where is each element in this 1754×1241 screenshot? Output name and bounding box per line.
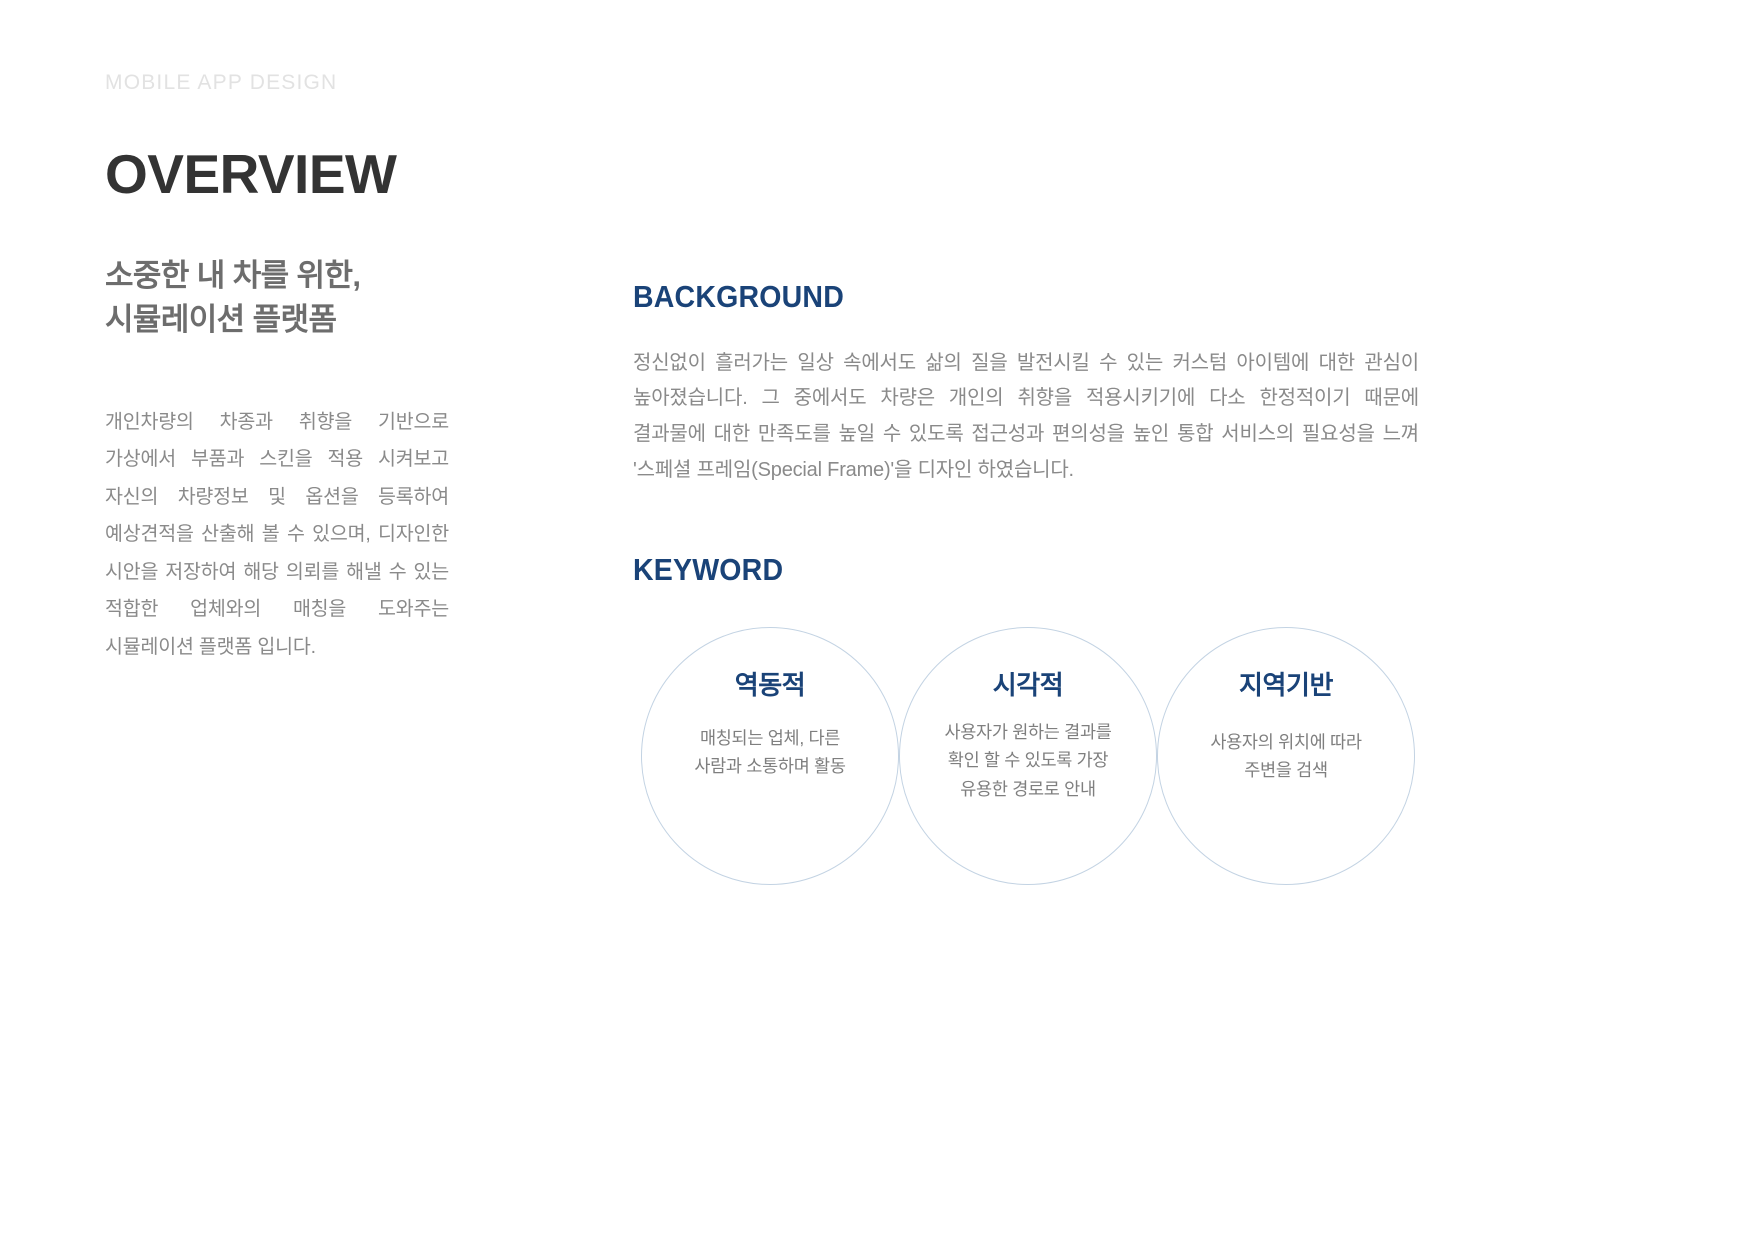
overview-description: 개인차량의 차종과 취향을 기반으로 가상에서 부품과 스킨을 적용 시켜보고 … xyxy=(105,404,449,666)
background-description: 정신없이 흘러가는 일상 속에서도 삶의 질을 발전시킬 수 있는 커스텀 아이… xyxy=(633,346,1419,488)
keyword-circle-location: 지역기반 사용자의 위치에 따라 주변을 검색 xyxy=(1157,627,1415,885)
left-column: MOBILE APP DESIGN OVERVIEW 소중한 내 차를 위한, … xyxy=(105,72,465,686)
subtitle: 소중한 내 차를 위한, 시뮬레이션 플랫폼 xyxy=(105,254,465,342)
subtitle-line-2: 시뮬레이션 플랫폼 xyxy=(105,298,465,342)
subtitle-line-1: 소중한 내 차를 위한, xyxy=(105,254,465,298)
right-column: BACKGROUND 정신없이 흘러가는 일상 속에서도 삶의 질을 발전시킬 … xyxy=(633,255,1423,897)
keyword-heading: KEYWORD xyxy=(633,554,1360,585)
page-title: OVERVIEW xyxy=(105,147,465,202)
keyword-title: 시각적 xyxy=(993,672,1064,698)
keyword-title: 지역기반 xyxy=(1239,672,1333,698)
keyword-section: KEYWORD xyxy=(633,554,1423,585)
keyword-description: 사용자가 원하는 결과를 확인 할 수 있도록 가장 유용한 경로로 안내 xyxy=(942,718,1114,803)
keyword-title: 역동적 xyxy=(735,672,806,698)
keyword-venn-diagram: 역동적 매칭되는 업체, 다른 사람과 소통하며 활동 시각적 사용자가 원하는… xyxy=(633,627,1423,897)
background-heading: BACKGROUND xyxy=(633,281,1360,312)
eyebrow-label: MOBILE APP DESIGN xyxy=(105,72,465,93)
keyword-circle-visual: 시각적 사용자가 원하는 결과를 확인 할 수 있도록 가장 유용한 경로로 안… xyxy=(899,627,1157,885)
slide-canvas: MOBILE APP DESIGN OVERVIEW 소중한 내 차를 위한, … xyxy=(0,0,1754,1241)
keyword-description: 매칭되는 업체, 다른 사람과 소통하며 활동 xyxy=(682,724,858,781)
keyword-description: 사용자의 위치에 따라 주변을 검색 xyxy=(1200,728,1372,785)
keyword-circle-dynamic: 역동적 매칭되는 업체, 다른 사람과 소통하며 활동 xyxy=(641,627,899,885)
